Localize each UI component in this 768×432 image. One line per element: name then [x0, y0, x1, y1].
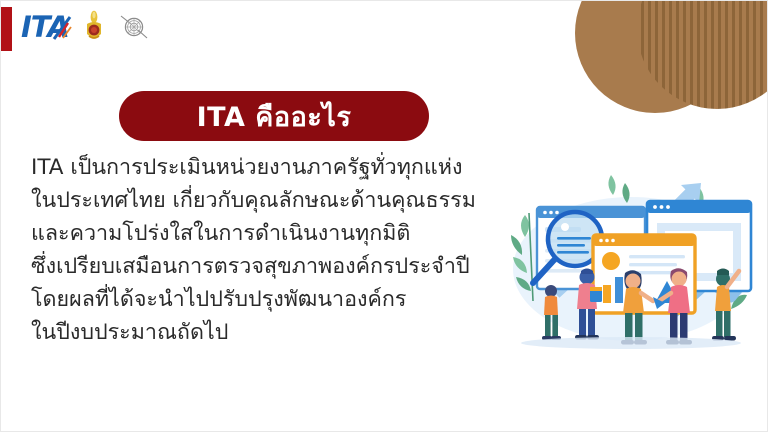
- body-line: ในประเทศไทย เกี่ยวกับคุณลักษณะด้านคุณธรร…: [31, 184, 531, 217]
- ita-logo: ITA: [21, 13, 69, 42]
- body-line: และความโปร่งใสในการดำเนินงานทุกมิติ: [31, 217, 531, 250]
- body-line: ITA เป็นการประเมินหน่วยงานภาครัฐทั่วทุกแ…: [31, 151, 531, 184]
- body-paragraph: ITA เป็นการประเมินหน่วยงานภาครัฐทั่วทุกแ…: [31, 151, 531, 349]
- body-line: ในปีงบประมาณถัดไป: [31, 316, 531, 349]
- red-accent-bar: [1, 7, 12, 51]
- ground-shadow: [521, 337, 741, 349]
- header-logo-group: ITA: [1, 1, 151, 53]
- solid-circle-decoration: [575, 1, 735, 113]
- government-seal-icon: [117, 10, 151, 44]
- business-analytics-illustration: [495, 173, 763, 349]
- body-line: ซึ่งเปรียบเสมือนการตรวจสุขภาพองค์กรประจำ…: [31, 250, 531, 283]
- title-banner: ITA คืออะไร: [119, 91, 429, 141]
- pie-chart-widget: [602, 252, 620, 270]
- decorative-circles: [567, 1, 767, 176]
- page-title: ITA คืออะไร: [197, 95, 352, 138]
- body-line: โดยผลที่ได้จะนำไปปรับปรุงพัฒนาองค์กร: [31, 283, 531, 316]
- logo-swoosh-icon: [51, 15, 73, 41]
- striped-circle-decoration: [637, 1, 767, 109]
- slide-canvas: ITA: [0, 0, 768, 432]
- thai-royal-emblem-icon: [83, 10, 105, 44]
- illustration-svg: [495, 173, 763, 349]
